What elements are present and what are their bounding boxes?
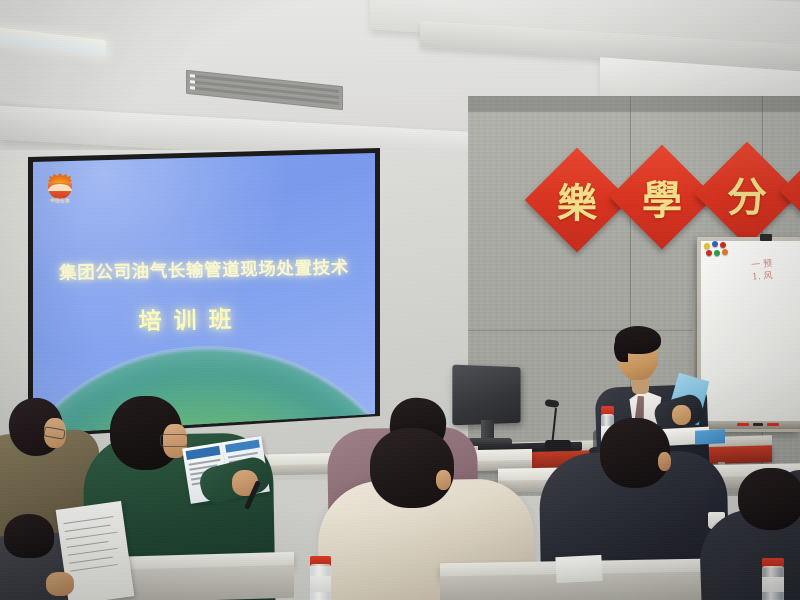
- whiteboard-marker-tray: [697, 421, 800, 429]
- placard-character: 學: [625, 160, 699, 234]
- classroom-photo: 中国石油 集团公司油气长输管道现场处置技术 培训班 樂 學 分 享 一 预 1.…: [0, 0, 800, 600]
- attendee-front-right-head: [738, 468, 800, 530]
- attendee-mid-right-ear: [658, 452, 671, 471]
- projection-screen: 中国石油 集团公司油气长输管道现场处置技术 培训班: [33, 153, 375, 432]
- wall-shadow-band: [468, 96, 800, 112]
- presenter-hair-side: [614, 336, 628, 362]
- whiteboard-writing-line-2: 1. 风: [752, 268, 800, 283]
- attendee-front-left-head: [4, 514, 54, 558]
- ceiling-vent-grille: [186, 70, 343, 111]
- attendee-cream-jacket-head: [370, 428, 454, 508]
- magnet-orange: [722, 249, 728, 255]
- whiteboard-writing: 一 预 1. 风: [751, 256, 800, 293]
- papers-on-desk: [555, 555, 602, 583]
- cnpc-sun-logo-icon: 中国石油: [45, 173, 75, 203]
- blue-folder: [695, 429, 725, 445]
- magnet-red: [720, 242, 726, 248]
- placard-character: 分: [710, 157, 784, 231]
- water-bottle: [762, 558, 784, 600]
- magnet-red-2: [706, 250, 712, 256]
- presenter-hand: [672, 405, 691, 425]
- magnet-blue: [712, 241, 718, 247]
- slide-title: 集团公司油气长输管道现场处置技术: [41, 254, 367, 285]
- ceiling-light-panel-1: [0, 26, 106, 57]
- whiteboard-clip: [760, 234, 772, 241]
- magnet-yellow: [704, 243, 710, 249]
- slide-subtitle: 培训班: [41, 298, 342, 338]
- microphone-base: [545, 440, 571, 450]
- eyeglasses-icon: [160, 434, 188, 447]
- lcd-monitor: [452, 365, 520, 426]
- placard-character: 樂: [540, 163, 614, 237]
- water-bottle: [310, 556, 331, 600]
- placard-character: 享: [795, 154, 800, 228]
- attendee-cream-jacket-ear: [436, 470, 451, 490]
- magnet-green: [714, 250, 720, 256]
- cnpc-wordmark: 中国石油: [44, 198, 76, 204]
- attendee-front-left-hand: [46, 572, 74, 596]
